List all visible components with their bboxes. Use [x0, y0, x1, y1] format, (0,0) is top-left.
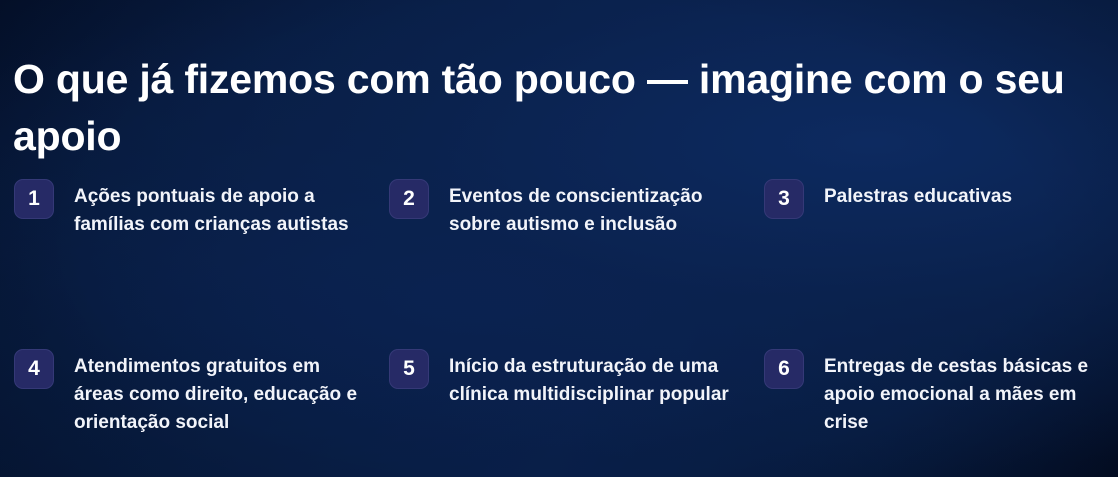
list-item: 1 Ações pontuais de apoio a famílias com… [0, 176, 375, 346]
list-item: 5 Início da estruturação de uma clínica … [375, 346, 750, 437]
item-number-badge: 5 [389, 349, 429, 389]
list-item: 2 Eventos de conscientização sobre autis… [375, 176, 750, 346]
item-number-badge: 1 [14, 179, 54, 219]
list-item: 6 Entregas de cestas básicas e apoio emo… [750, 346, 1118, 437]
item-number-badge: 2 [389, 179, 429, 219]
slide-root: O que já fizemos com tão pouco — imagine… [0, 0, 1118, 477]
item-label: Atendimentos gratuitos em áreas como dir… [74, 346, 357, 437]
achievements-grid: 1 Ações pontuais de apoio a famílias com… [0, 176, 1118, 437]
item-number-badge: 6 [764, 349, 804, 389]
list-item: 4 Atendimentos gratuitos em áreas como d… [0, 346, 375, 437]
item-label: Início da estruturação de uma clínica mu… [449, 346, 732, 409]
page-title: O que já fizemos com tão pouco — imagine… [13, 51, 1073, 165]
item-label: Palestras educativas [824, 176, 1012, 211]
list-item: 3 Palestras educativas [750, 176, 1118, 346]
item-label: Entregas de cestas básicas e apoio emoci… [824, 346, 1100, 437]
item-label: Eventos de conscientização sobre autismo… [449, 176, 732, 239]
item-label: Ações pontuais de apoio a famílias com c… [74, 176, 357, 239]
item-number-badge: 4 [14, 349, 54, 389]
item-number-badge: 3 [764, 179, 804, 219]
